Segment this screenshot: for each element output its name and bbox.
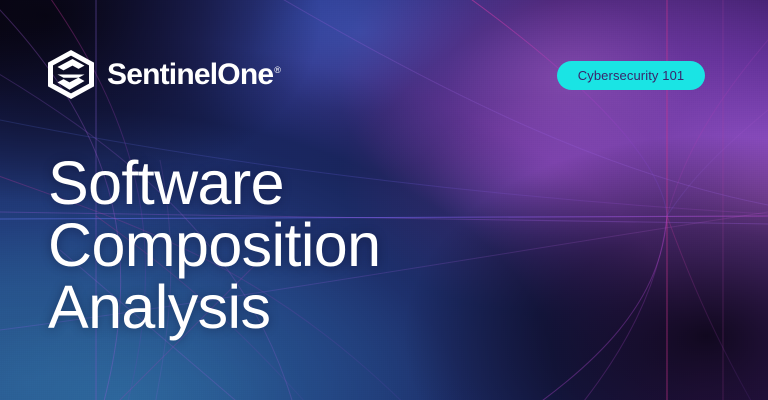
page-title-line-3: Analysis xyxy=(48,276,568,338)
category-badge[interactable]: Cybersecurity 101 xyxy=(557,61,705,90)
brand-trademark-symbol: ® xyxy=(274,65,281,75)
banner-header: SentinelOne® Cybersecurity 101 xyxy=(0,0,768,150)
sentinelone-hex-logo-icon xyxy=(48,50,94,99)
page-title-line-2: Composition xyxy=(48,214,568,276)
page-title-line-1: Software xyxy=(48,152,568,214)
hero-banner: SentinelOne® Cybersecurity 101 Software … xyxy=(0,0,768,400)
page-title: Software Composition Analysis xyxy=(48,152,568,338)
brand-name: SentinelOne® xyxy=(107,60,281,90)
category-badge-label: Cybersecurity 101 xyxy=(578,69,684,82)
brand-name-text: SentinelOne xyxy=(107,58,273,91)
brand-lockup[interactable]: SentinelOne® xyxy=(48,50,281,99)
